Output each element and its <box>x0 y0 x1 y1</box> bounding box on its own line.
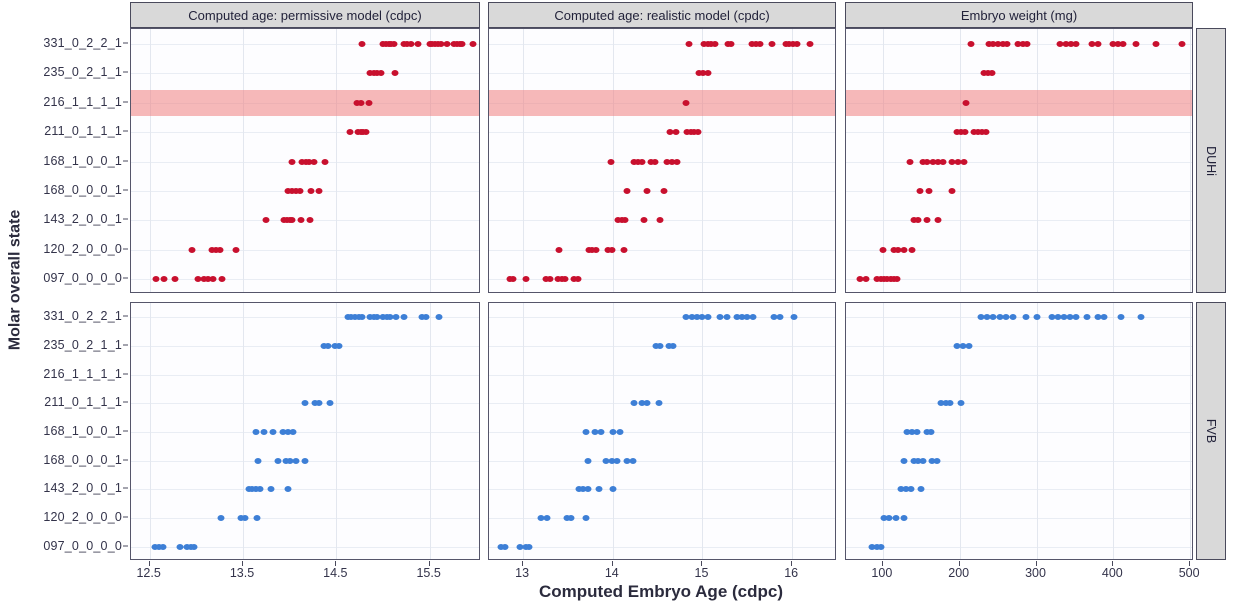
data-point <box>324 343 331 349</box>
data-point <box>630 458 637 464</box>
data-point <box>293 458 300 464</box>
data-point <box>176 544 183 550</box>
column-strip-label: Computed age: permissive model (cdpc) <box>188 8 421 23</box>
data-point <box>965 343 972 349</box>
grid-line-horizontal <box>489 162 835 163</box>
data-point <box>749 314 756 320</box>
data-point <box>232 247 239 253</box>
data-point <box>301 458 308 464</box>
data-point <box>622 217 629 223</box>
grid-line-horizontal <box>489 461 835 462</box>
grid-line-horizontal <box>846 547 1192 548</box>
data-point <box>357 100 364 106</box>
y-tick-label: 120_2_0_0_0 <box>43 242 122 256</box>
data-point <box>526 544 533 550</box>
plot-panel-duhi-2[interactable] <box>488 28 836 293</box>
data-point <box>555 247 562 253</box>
grid-line-horizontal <box>489 432 835 433</box>
grid-line-horizontal <box>131 518 479 519</box>
grid-line-vertical <box>150 303 151 559</box>
data-point <box>392 70 399 76</box>
data-point <box>1137 314 1144 320</box>
data-point <box>1022 314 1029 320</box>
x-tick-label: 16 <box>784 566 798 580</box>
data-point <box>949 188 956 194</box>
y-tick-label: 168_0_0_0_1 <box>43 183 122 197</box>
y-tick-label: 168_1_0_0_1 <box>43 154 122 168</box>
data-point <box>639 159 646 165</box>
data-point <box>657 217 664 223</box>
data-point <box>308 188 315 194</box>
grid-line-vertical <box>430 29 431 292</box>
grid-line-vertical <box>792 29 793 292</box>
data-point <box>1101 314 1108 320</box>
data-point <box>790 314 797 320</box>
data-point <box>624 188 631 194</box>
data-point <box>326 400 333 406</box>
data-point <box>1119 41 1126 47</box>
data-point <box>256 486 263 492</box>
y-tick-labels-duhi: 331_0_2_2_1235_0_2_1_1216_1_1_1_1211_0_1… <box>18 28 128 293</box>
data-point <box>261 429 268 435</box>
column-strip-2: Computed age: realistic model (cpdc) <box>488 2 836 28</box>
grid-line-vertical <box>792 303 793 559</box>
data-point <box>284 486 291 492</box>
grid-line-horizontal <box>489 375 835 376</box>
column-strip-1: Computed age: permissive model (cdpc) <box>130 2 480 28</box>
grid-line-vertical <box>1190 29 1191 292</box>
highlight-band <box>846 90 1192 116</box>
data-point <box>1024 41 1031 47</box>
data-point <box>643 188 650 194</box>
data-point <box>596 486 603 492</box>
data-point <box>909 247 916 253</box>
data-point <box>153 276 160 282</box>
y-tick-mark <box>123 459 128 460</box>
data-point <box>918 486 925 492</box>
data-point <box>544 515 551 521</box>
data-point <box>315 188 322 194</box>
data-point <box>1152 41 1159 47</box>
data-point <box>582 429 589 435</box>
data-point <box>962 129 969 135</box>
data-point <box>862 276 869 282</box>
grid-line-horizontal <box>846 461 1192 462</box>
data-point <box>598 429 605 435</box>
data-point <box>1094 41 1101 47</box>
grid-line-horizontal <box>846 132 1192 133</box>
plot-panel-fvb-1[interactable] <box>130 302 480 560</box>
data-point <box>263 217 270 223</box>
grid-line-vertical <box>1190 303 1191 559</box>
data-point <box>614 458 621 464</box>
data-point <box>1133 41 1140 47</box>
data-point <box>546 276 553 282</box>
data-point <box>592 247 599 253</box>
data-point <box>400 314 407 320</box>
data-point <box>414 41 421 47</box>
y-tick-mark <box>123 248 128 249</box>
data-point <box>947 400 954 406</box>
grid-line-vertical <box>336 303 337 559</box>
grid-line-horizontal <box>131 250 479 251</box>
data-point <box>958 400 965 406</box>
data-point <box>924 217 931 223</box>
data-point <box>188 247 195 253</box>
data-point <box>301 400 308 406</box>
y-tick-label: 235_0_2_1_1 <box>43 65 122 79</box>
data-point <box>159 544 166 550</box>
plot-panel-duhi-1[interactable] <box>130 28 480 293</box>
plot-panel-duhi-3[interactable] <box>845 28 1193 293</box>
data-point <box>609 429 616 435</box>
data-point <box>641 217 648 223</box>
y-tick-label: 216_1_1_1_1 <box>43 95 122 109</box>
y-tick-label: 143_2_0_0_1 <box>43 481 122 495</box>
column-strip-label: Embryo weight (mg) <box>961 8 1077 23</box>
data-point <box>1073 314 1080 320</box>
grid-line-horizontal <box>489 132 835 133</box>
data-point <box>657 343 664 349</box>
x-tick-label: 100 <box>871 566 892 580</box>
data-point <box>160 276 167 282</box>
data-point <box>510 276 517 282</box>
data-point <box>620 247 627 253</box>
data-point <box>459 41 466 47</box>
grid-line-horizontal <box>489 73 835 74</box>
x-tick-label: 400 <box>1102 566 1123 580</box>
row-strip-fvb: FVB <box>1196 302 1226 560</box>
grid-line-horizontal <box>846 346 1192 347</box>
data-point <box>469 41 476 47</box>
data-point <box>436 314 443 320</box>
grid-line-horizontal <box>131 279 479 280</box>
y-tick-mark <box>123 101 128 102</box>
y-tick-mark <box>123 160 128 161</box>
data-point <box>660 188 667 194</box>
x-tick-label: 12.5 <box>136 566 160 580</box>
x-tick-label: 14 <box>605 566 619 580</box>
grid-line-horizontal <box>846 403 1192 404</box>
data-point <box>584 486 591 492</box>
data-point <box>694 129 701 135</box>
data-point <box>216 247 223 253</box>
column-strip-3: Embryo weight (mg) <box>845 2 1193 28</box>
y-tick-label: 097_0_0_0_0 <box>43 271 122 285</box>
grid-line-horizontal <box>846 191 1192 192</box>
grid-line-horizontal <box>131 489 479 490</box>
data-point <box>915 217 922 223</box>
data-point <box>322 159 329 165</box>
data-point <box>336 343 343 349</box>
grid-line-horizontal <box>846 162 1192 163</box>
data-point <box>567 515 574 521</box>
y-tick-mark <box>123 545 128 546</box>
data-point <box>1004 41 1011 47</box>
data-point <box>919 458 926 464</box>
y-tick-mark <box>123 431 128 432</box>
data-point <box>607 159 614 165</box>
grid-line-horizontal <box>131 375 479 376</box>
grid-line-vertical <box>702 29 703 292</box>
x-tick-label: 13.5 <box>230 566 254 580</box>
data-point <box>315 400 322 406</box>
data-point <box>933 458 940 464</box>
data-point <box>656 400 663 406</box>
grid-line-horizontal <box>131 346 479 347</box>
y-tick-mark <box>123 278 128 279</box>
data-point <box>253 429 260 435</box>
grid-line-vertical <box>523 303 524 559</box>
y-tick-mark <box>123 488 128 489</box>
data-point <box>574 276 581 282</box>
grid-line-vertical <box>702 303 703 559</box>
data-point <box>907 486 914 492</box>
data-point <box>584 458 591 464</box>
y-tick-label: 331_0_2_2_1 <box>43 309 122 323</box>
y-tick-mark <box>123 219 128 220</box>
data-point <box>522 276 529 282</box>
data-point <box>728 41 735 47</box>
data-point <box>669 343 676 349</box>
data-point <box>925 188 932 194</box>
y-tick-labels-fvb: 331_0_2_2_1235_0_2_1_1216_1_1_1_1211_0_1… <box>18 302 128 560</box>
y-tick-label: 097_0_0_0_0 <box>43 539 122 553</box>
data-point <box>1179 41 1186 47</box>
grid-line-horizontal <box>846 432 1192 433</box>
grid-line-vertical <box>430 303 431 559</box>
data-point <box>171 276 178 282</box>
data-point <box>893 276 900 282</box>
data-point <box>939 159 946 165</box>
data-point <box>982 129 989 135</box>
y-tick-label: 331_0_2_2_1 <box>43 36 122 50</box>
y-tick-label: 143_2_0_0_1 <box>43 212 122 226</box>
grid-line-horizontal <box>131 191 479 192</box>
data-point <box>502 544 509 550</box>
data-point <box>793 41 800 47</box>
x-tick-label: 15 <box>695 566 709 580</box>
grid-line-horizontal <box>846 73 1192 74</box>
data-point <box>901 458 908 464</box>
data-point <box>1002 314 1009 320</box>
x-tick-label: 14.5 <box>323 566 347 580</box>
data-point <box>723 314 730 320</box>
data-point <box>241 515 248 521</box>
data-point <box>609 486 616 492</box>
data-point <box>892 515 899 521</box>
data-point <box>191 544 198 550</box>
data-point <box>1084 314 1091 320</box>
data-point <box>378 70 385 76</box>
data-point <box>935 217 942 223</box>
y-tick-label: 211_0_1_1_1 <box>44 124 122 138</box>
chart-root: Molar overall state Computed Embryo Age … <box>0 0 1234 612</box>
data-point <box>582 515 589 521</box>
y-tick-mark <box>123 345 128 346</box>
y-tick-mark <box>123 316 128 317</box>
grid-line-vertical <box>336 29 337 292</box>
data-point <box>217 515 224 521</box>
y-tick-mark <box>123 131 128 132</box>
data-point <box>359 41 366 47</box>
data-point <box>901 247 908 253</box>
y-tick-label: 211_0_1_1_1 <box>44 395 122 409</box>
data-point <box>756 41 763 47</box>
data-point <box>297 217 304 223</box>
data-point <box>901 515 908 521</box>
data-point <box>712 41 719 47</box>
data-point <box>704 70 711 76</box>
data-point <box>988 70 995 76</box>
y-tick-mark <box>123 42 128 43</box>
data-point <box>269 429 276 435</box>
data-point <box>363 129 370 135</box>
x-tick-label: 200 <box>948 566 969 580</box>
grid-line-vertical <box>243 29 244 292</box>
plot-panel-fvb-3[interactable] <box>845 302 1193 560</box>
data-point <box>914 429 921 435</box>
data-point <box>686 41 693 47</box>
data-point <box>704 314 711 320</box>
data-point <box>1033 314 1040 320</box>
row-strip-label: DUHi <box>1204 146 1218 176</box>
highlight-band <box>489 90 835 116</box>
y-tick-label: 168_0_0_0_1 <box>43 453 122 467</box>
grid-line-horizontal <box>131 432 479 433</box>
data-point <box>275 458 282 464</box>
data-point <box>359 314 366 320</box>
grid-line-vertical <box>960 303 961 559</box>
data-point <box>769 41 776 47</box>
data-point <box>776 314 783 320</box>
data-point <box>1010 314 1017 320</box>
data-point <box>968 41 975 47</box>
y-tick-label: 235_0_2_1_1 <box>43 338 122 352</box>
row-strip-duhi: DUHi <box>1196 28 1226 293</box>
data-point <box>289 217 296 223</box>
grid-line-horizontal <box>489 489 835 490</box>
data-point <box>290 429 297 435</box>
grid-line-horizontal <box>131 220 479 221</box>
plot-panel-fvb-2[interactable] <box>488 302 836 560</box>
data-point <box>1073 41 1080 47</box>
data-point <box>643 400 650 406</box>
data-point <box>608 247 615 253</box>
x-tick-label: 500 <box>1179 566 1200 580</box>
data-point <box>672 129 679 135</box>
data-point <box>879 247 886 253</box>
y-tick-mark <box>123 517 128 518</box>
data-point <box>807 41 814 47</box>
data-point <box>268 486 275 492</box>
grid-line-horizontal <box>489 279 835 280</box>
y-tick-label: 168_1_0_0_1 <box>43 424 122 438</box>
data-point <box>906 159 913 165</box>
data-point <box>616 429 623 435</box>
data-point <box>218 276 225 282</box>
data-point <box>393 314 400 320</box>
grid-line-horizontal <box>489 250 835 251</box>
data-point <box>928 429 935 435</box>
grid-line-vertical <box>150 29 151 292</box>
grid-line-vertical <box>1113 303 1114 559</box>
grid-line-horizontal <box>131 73 479 74</box>
data-point <box>210 276 217 282</box>
data-point <box>310 159 317 165</box>
column-strip-label: Computed age: realistic model (cpdc) <box>554 8 769 23</box>
y-tick-label: 216_1_1_1_1 <box>43 367 122 381</box>
y-tick-mark <box>123 402 128 403</box>
data-point <box>288 159 295 165</box>
y-tick-mark <box>123 189 128 190</box>
data-point <box>916 188 923 194</box>
grid-line-vertical <box>1113 29 1114 292</box>
data-point <box>961 159 968 165</box>
y-tick-mark <box>123 72 128 73</box>
data-point <box>254 458 261 464</box>
x-tick-label: 300 <box>1025 566 1046 580</box>
grid-line-horizontal <box>489 547 835 548</box>
x-axis-title: Computed Embryo Age (cdpc) <box>130 582 1192 602</box>
grid-line-horizontal <box>846 220 1192 221</box>
x-tick-label: 15.5 <box>416 566 440 580</box>
highlight-band <box>131 90 479 116</box>
row-strip-label: FVB <box>1204 419 1218 443</box>
grid-line-vertical <box>523 29 524 292</box>
data-point <box>631 400 638 406</box>
y-tick-mark <box>123 373 128 374</box>
data-point <box>391 41 398 47</box>
data-point <box>347 129 354 135</box>
data-point <box>366 100 373 106</box>
data-point <box>422 314 429 320</box>
data-point <box>562 276 569 282</box>
grid-line-vertical <box>1037 303 1038 559</box>
y-tick-label: 120_2_0_0_0 <box>43 510 122 524</box>
grid-line-horizontal <box>131 132 479 133</box>
data-point <box>683 100 690 106</box>
data-point <box>878 544 885 550</box>
data-point <box>962 100 969 106</box>
data-point <box>254 515 261 521</box>
grid-line-horizontal <box>846 375 1192 376</box>
data-point <box>651 159 658 165</box>
grid-line-vertical <box>1037 29 1038 292</box>
data-point <box>296 188 303 194</box>
data-point <box>674 159 681 165</box>
data-point <box>1118 314 1125 320</box>
data-point <box>307 217 314 223</box>
grid-line-horizontal <box>489 317 835 318</box>
x-tick-label: 13 <box>515 566 529 580</box>
